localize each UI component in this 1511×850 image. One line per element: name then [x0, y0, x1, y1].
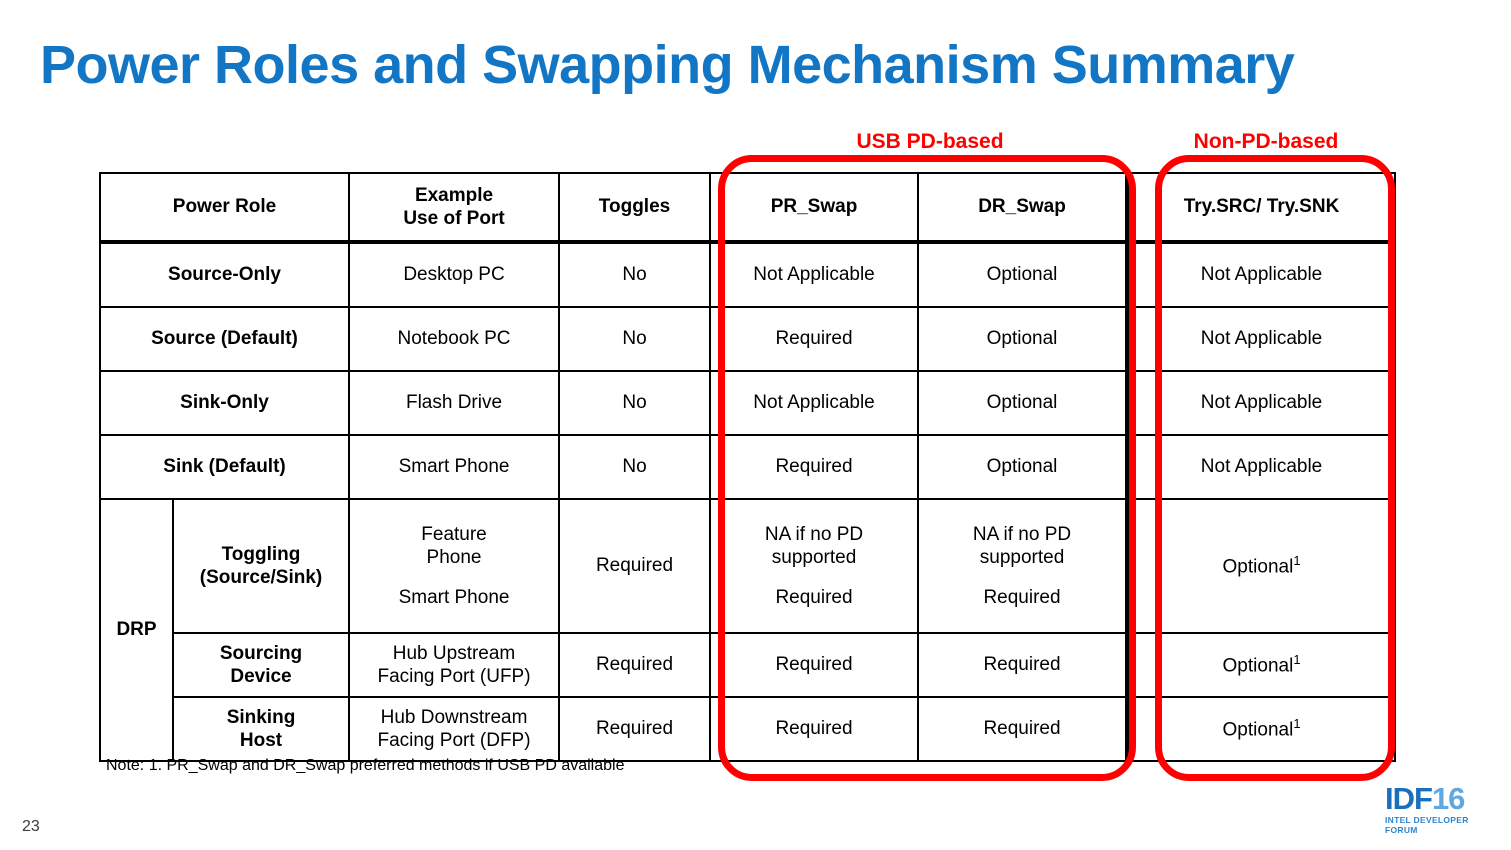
cell-example-line2: Facing Port (UFP) — [354, 665, 554, 688]
cell-toggles: Required — [559, 697, 710, 761]
cell-pr-swap-line2: supported — [715, 546, 913, 569]
header-dr-swap: DR_Swap — [918, 173, 1127, 242]
cell-pr-swap: Required — [710, 633, 918, 697]
cell-try-text: Optional — [1223, 720, 1294, 741]
cell-dr-swap: NA if no PD supported Required — [918, 499, 1127, 633]
header-toggles: Toggles — [559, 173, 710, 242]
cell-try-src-snk: Not Applicable — [1127, 435, 1395, 499]
cell-toggles: Required — [559, 499, 710, 633]
cell-pr-swap-spacer — [715, 569, 913, 586]
header-example-use-of-port: Example Use of Port — [349, 173, 559, 242]
non-pd-group-caption: Non-PD-based — [1146, 130, 1386, 154]
cell-example: Hub Downstream Facing Port (DFP) — [349, 697, 559, 761]
header-example-line1: Example — [354, 184, 554, 207]
cell-example: Flash Drive — [349, 371, 559, 435]
cell-try-src-snk: Optional1 — [1127, 697, 1395, 761]
table-row-drp-toggling: DRP Toggling (Source/Sink) Feature Phone… — [100, 499, 1395, 633]
cell-dr-swap: Required — [918, 697, 1127, 761]
table-row-drp-sinking: Sinking Host Hub Downstream Facing Port … — [100, 697, 1395, 761]
page-number: 23 — [22, 818, 40, 836]
table-row: Sink-Only Flash Drive No Not Applicable … — [100, 371, 1395, 435]
cell-power-role: Source-Only — [100, 242, 349, 307]
cell-example-line1: Hub Downstream — [354, 706, 554, 729]
idf16-logo-subtitle: INTEL DEVELOPER FORUM — [1385, 815, 1495, 835]
idf16-logo-16: 16 — [1432, 781, 1464, 816]
cell-toggles: No — [559, 242, 710, 307]
cell-dr-swap: Required — [918, 633, 1127, 697]
cell-example-line1: Hub Upstream — [354, 642, 554, 665]
cell-drp-role: Sourcing Device — [173, 633, 349, 697]
cell-power-role: Sink-Only — [100, 371, 349, 435]
footnote-marker: 1 — [1293, 716, 1300, 731]
cell-dr-swap: Optional — [918, 371, 1127, 435]
cell-example: Feature Phone Smart Phone — [349, 499, 559, 633]
cell-try-src-snk: Optional1 — [1127, 499, 1395, 633]
usb-pd-group-caption: USB PD-based — [724, 130, 1136, 154]
cell-example: Desktop PC — [349, 242, 559, 307]
table-row: Sink (Default) Smart Phone No Required O… — [100, 435, 1395, 499]
cell-pr-swap: Required — [710, 307, 918, 371]
cell-toggles: Required — [559, 633, 710, 697]
cell-drp-group-label: DRP — [100, 499, 173, 761]
cell-try-src-snk: Optional1 — [1127, 633, 1395, 697]
header-try-src-snk: Try.SRC/ Try.SNK — [1127, 173, 1395, 242]
cell-example-line2: Phone — [354, 546, 554, 569]
cell-drp-role-line2: Host — [178, 729, 344, 752]
footnote-note: Note: 1. PR_Swap and DR_Swap preferred m… — [106, 757, 624, 775]
cell-pr-swap: Not Applicable — [710, 371, 918, 435]
cell-dr-swap-line3: Required — [923, 586, 1121, 609]
page-title: Power Roles and Swapping Mechanism Summa… — [40, 36, 1440, 94]
cell-drp-role-line2: (Source/Sink) — [178, 566, 344, 589]
cell-pr-swap: Required — [710, 435, 918, 499]
cell-example-line1: Feature — [354, 523, 554, 546]
table-row: Source (Default) Notebook PC No Required… — [100, 307, 1395, 371]
cell-try-text: Optional — [1223, 557, 1294, 578]
cell-dr-swap-spacer — [923, 569, 1121, 586]
cell-pr-swap-line1: NA if no PD — [715, 523, 913, 546]
cell-dr-swap-line1: NA if no PD — [923, 523, 1121, 546]
header-power-role: Power Role — [100, 173, 349, 242]
cell-toggles: No — [559, 307, 710, 371]
table-row-drp-sourcing: Sourcing Device Hub Upstream Facing Port… — [100, 633, 1395, 697]
cell-example: Hub Upstream Facing Port (UFP) — [349, 633, 559, 697]
cell-try-src-snk: Not Applicable — [1127, 371, 1395, 435]
cell-drp-role-line1: Sinking — [178, 706, 344, 729]
table-header-row: Power Role Example Use of Port Toggles P… — [100, 173, 1395, 242]
cell-pr-swap: Not Applicable — [710, 242, 918, 307]
cell-dr-swap: Optional — [918, 307, 1127, 371]
idf16-logo-wordmark: IDF16 — [1385, 783, 1495, 814]
cell-example: Smart Phone — [349, 435, 559, 499]
cell-toggles: No — [559, 371, 710, 435]
cell-pr-swap: Required — [710, 697, 918, 761]
table-row: Source-Only Desktop PC No Not Applicable… — [100, 242, 1395, 307]
cell-try-src-snk: Not Applicable — [1127, 242, 1395, 307]
idf16-logo-idf: IDF — [1385, 781, 1432, 816]
cell-example-line3: Smart Phone — [354, 586, 554, 609]
cell-power-role: Sink (Default) — [100, 435, 349, 499]
cell-drp-role-line1: Toggling — [178, 543, 344, 566]
footnote-marker: 1 — [1293, 553, 1300, 568]
cell-drp-role: Toggling (Source/Sink) — [173, 499, 349, 633]
header-pr-swap: PR_Swap — [710, 173, 918, 242]
cell-drp-role: Sinking Host — [173, 697, 349, 761]
cell-try-text: Optional — [1223, 656, 1294, 677]
cell-example-spacer — [354, 569, 554, 586]
cell-pr-swap: NA if no PD supported Required — [710, 499, 918, 633]
cell-dr-swap-line2: supported — [923, 546, 1121, 569]
header-example-line2: Use of Port — [354, 207, 554, 230]
cell-toggles: No — [559, 435, 710, 499]
cell-drp-role-line1: Sourcing — [178, 642, 344, 665]
cell-try-src-snk: Not Applicable — [1127, 307, 1395, 371]
idf16-logo: IDF16 INTEL DEVELOPER FORUM — [1385, 783, 1495, 835]
cell-dr-swap: Optional — [918, 435, 1127, 499]
power-roles-table: Power Role Example Use of Port Toggles P… — [99, 172, 1396, 762]
cell-example: Notebook PC — [349, 307, 559, 371]
cell-pr-swap-line3: Required — [715, 586, 913, 609]
cell-example-line2: Facing Port (DFP) — [354, 729, 554, 752]
cell-power-role: Source (Default) — [100, 307, 349, 371]
cell-drp-role-line2: Device — [178, 665, 344, 688]
footnote-marker: 1 — [1293, 652, 1300, 667]
cell-dr-swap: Optional — [918, 242, 1127, 307]
